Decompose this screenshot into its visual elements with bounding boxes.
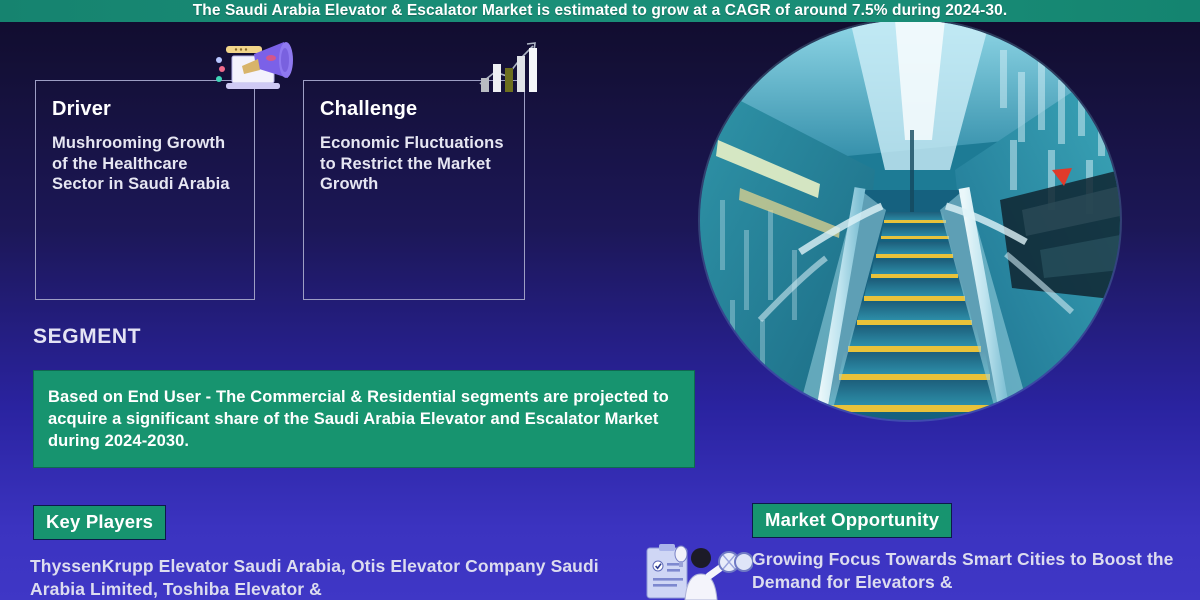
segment-text: Based on End User - The Commercial & Res…	[34, 386, 694, 453]
person-clipboard-magnifier-icon	[645, 542, 753, 600]
challenge-card-body: Economic Fluctuations to Restrict the Ma…	[320, 133, 508, 195]
driver-card-body: Mushrooming Growth of the Healthcare Sec…	[52, 133, 238, 195]
challenge-card: Challenge Economic Fluctuations to Restr…	[303, 80, 525, 300]
megaphone-laptop-icon-graphic	[192, 34, 300, 96]
header-bar: The Saudi Arabia Elevator & Escalator Ma…	[0, 0, 1200, 22]
megaphone-laptop-icon	[192, 34, 300, 96]
bar-chart-growth-icon-graphic	[477, 40, 539, 94]
driver-card: Driver Mushrooming Growth of the Healthc…	[35, 80, 255, 300]
bar-chart-growth-icon	[477, 40, 539, 94]
segment-label: SEGMENT	[33, 325, 141, 349]
driver-card-title: Driver	[52, 98, 254, 121]
header-title: The Saudi Arabia Elevator & Escalator Ma…	[193, 2, 1008, 20]
challenge-card-title: Challenge	[320, 98, 524, 121]
escalator-photo	[700, 20, 1120, 420]
escalator-photo-graphic	[700, 20, 1120, 420]
market-opportunity-badge: Market Opportunity	[752, 503, 952, 538]
market-opportunity-text: Growing Focus Towards Smart Cities to Bo…	[752, 548, 1197, 595]
key-players-badge: Key Players	[33, 505, 166, 540]
person-clipboard-magnifier-icon-graphic	[645, 542, 753, 600]
key-players-text: ThyssenKrupp Elevator Saudi Arabia, Otis…	[30, 555, 605, 600]
segment-box: Based on End User - The Commercial & Res…	[33, 370, 695, 468]
